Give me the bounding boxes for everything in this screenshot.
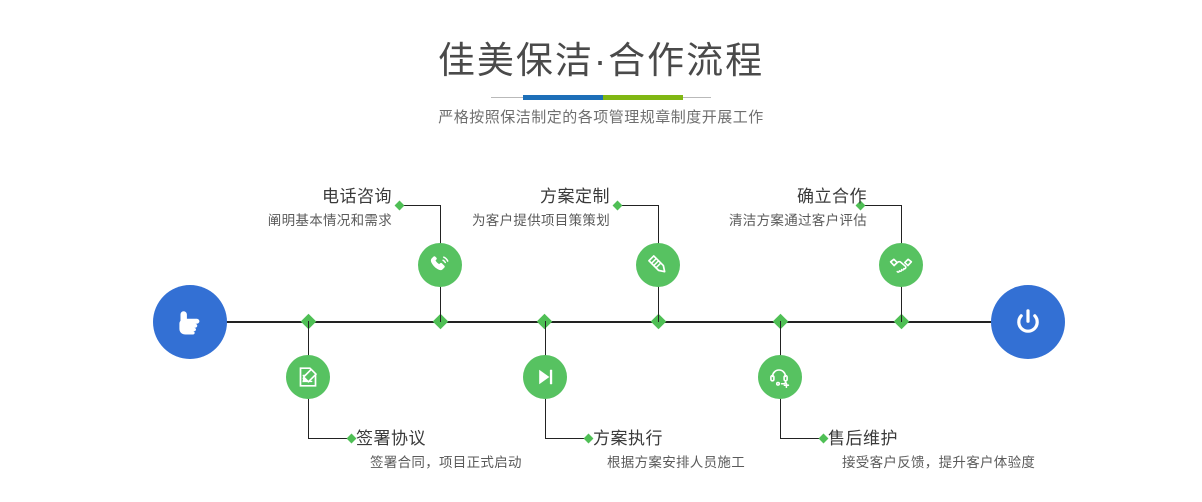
connector-hline-step-3	[620, 205, 659, 206]
page-title: 佳美保洁·合作流程	[0, 38, 1202, 84]
step-desc-2: 签署合同，项目正式启动	[356, 452, 522, 474]
step-title-5: 确立合作	[797, 187, 867, 206]
connector-marker-step-4	[584, 434, 594, 444]
step-label-4: 方案执行 根据方案安排人员施工	[593, 428, 745, 474]
connector-hline-step-2	[308, 438, 351, 439]
connector-marker-step-6	[819, 434, 829, 444]
step-label-6: 售后维护 接受客户反馈，提升客户体验度	[828, 428, 1035, 474]
page-subtitle: 严格按照保洁制定的各项管理规章制度开展工作	[0, 106, 1202, 130]
step-label-5: 确立合作 清洁方案通过客户评估	[729, 186, 867, 232]
step-title-2: 签署协议	[356, 428, 522, 450]
step-icon-6	[758, 355, 802, 399]
step-icon-3	[636, 243, 680, 287]
step-icon-1	[418, 243, 462, 287]
handshake-icon	[888, 252, 914, 278]
step-desc-5: 清洁方案通过客户评估	[729, 210, 867, 232]
phone-call-icon	[427, 252, 453, 278]
connector-hline-step-4	[545, 438, 588, 439]
play-execute-icon	[532, 364, 558, 390]
step-label-3: 方案定制 为客户提供项目策策划	[472, 186, 610, 232]
plan-pencil-icon	[645, 252, 671, 278]
connector-hline-step-5	[863, 205, 902, 206]
step-title-1: 电话咨询	[322, 187, 392, 206]
connector-marker-step-1	[395, 201, 405, 211]
title-divider	[491, 95, 711, 100]
connector-hline-step-6	[780, 438, 823, 439]
step-desc-3: 为客户提供项目策策划	[472, 210, 610, 232]
connector-marker-step-2	[347, 434, 357, 444]
step-title-6: 售后维护	[828, 428, 1035, 450]
flow-start-node	[153, 285, 227, 359]
divider-segment-green	[603, 95, 683, 100]
step-icon-2	[286, 355, 330, 399]
cooperation-flow-infographic: 佳美保洁·合作流程 严格按照保洁制定的各项管理规章制度开展工作	[0, 0, 1202, 502]
step-title-3: 方案定制	[540, 187, 610, 206]
pointing-hand-icon	[170, 302, 210, 342]
step-desc-4: 根据方案安排人员施工	[593, 452, 745, 474]
step-label-1: 电话咨询 阐明基本情况和需求	[268, 186, 392, 232]
step-desc-6: 接受客户反馈，提升客户体验度	[828, 452, 1035, 474]
step-icon-5	[879, 243, 923, 287]
step-title-4: 方案执行	[593, 428, 745, 450]
connector-hline-step-1	[402, 205, 441, 206]
divider-segment-blue	[523, 95, 603, 100]
sign-document-icon	[295, 364, 321, 390]
step-desc-1: 阐明基本情况和需求	[268, 210, 392, 232]
step-icon-4	[523, 355, 567, 399]
flow-end-node	[991, 285, 1065, 359]
step-label-2: 签署协议 签署合同，项目正式启动	[356, 428, 522, 474]
connector-marker-step-3	[613, 201, 623, 211]
customer-service-add-icon	[767, 364, 793, 390]
power-icon	[1008, 302, 1048, 342]
